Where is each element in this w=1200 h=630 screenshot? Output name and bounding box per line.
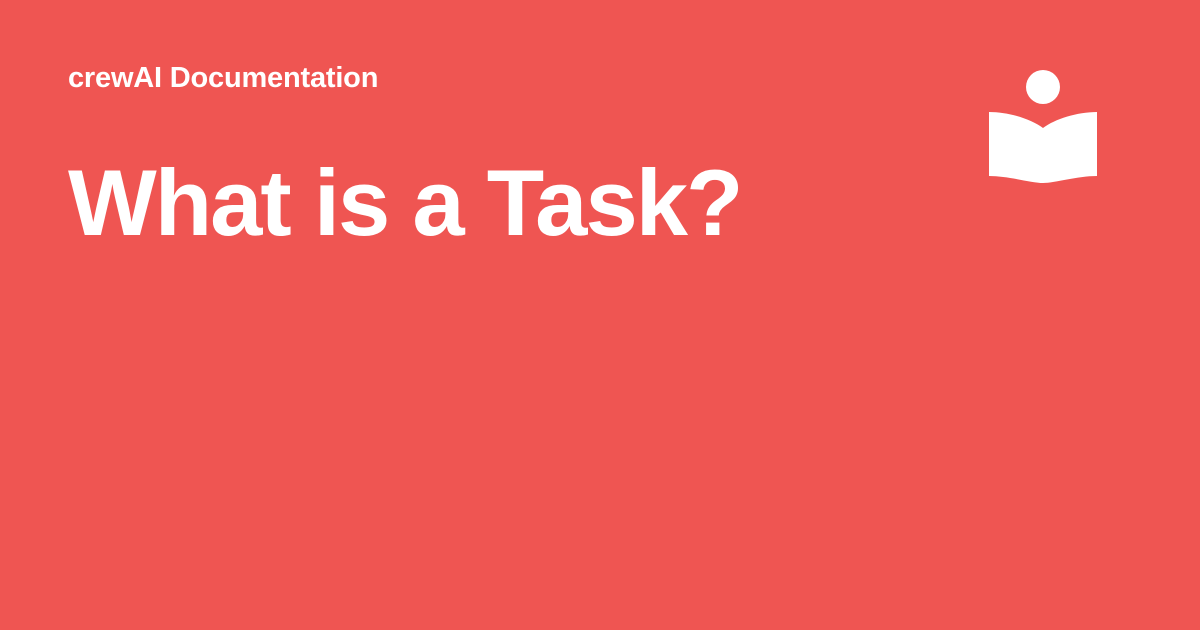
open-book-shape (989, 112, 1097, 183)
reader-head-circle (1026, 70, 1060, 104)
page-title: What is a Task? (68, 154, 741, 253)
site-name: crewAI Documentation (68, 64, 928, 93)
social-preview-card: crewAI Documentation What is a Task? (0, 0, 1200, 630)
text-block: crewAI Documentation What is a Task? (68, 64, 928, 93)
book-logo-icon (985, 62, 1103, 188)
book-logo (985, 62, 1103, 188)
